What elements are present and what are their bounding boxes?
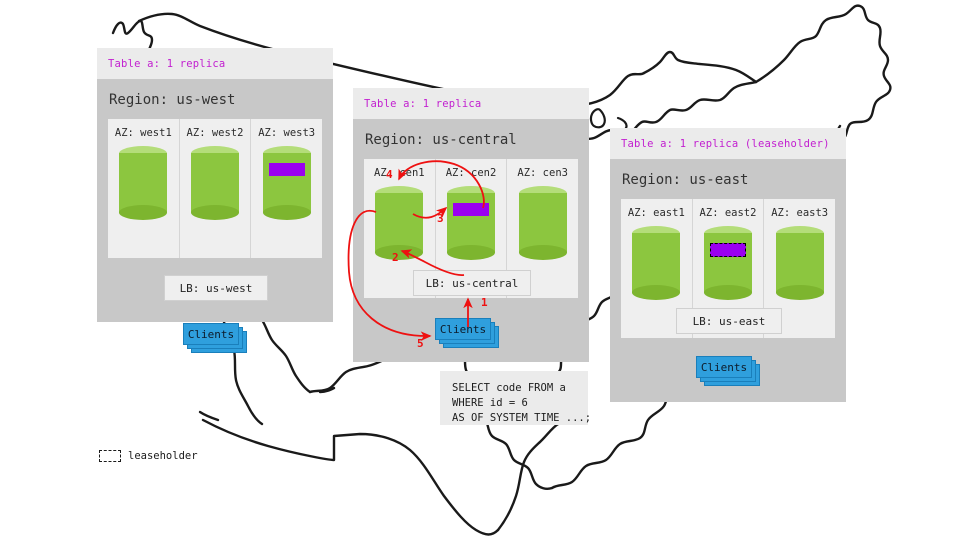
az-label: AZ: east3 (771, 207, 828, 219)
node-cylinder-west1[interactable] (119, 146, 167, 220)
diagram-canvas: Table a: 1 replica Region: us-west AZ: w… (0, 0, 960, 540)
az-row-us-west: AZ: west1 AZ: west2 AZ (108, 119, 322, 258)
node-cylinder-cen3[interactable] (519, 186, 567, 260)
replica-west3[interactable] (269, 163, 305, 176)
az-label: AZ: east2 (700, 207, 757, 219)
region-title: Region: us-west (108, 79, 322, 119)
clients-us-east[interactable]: Clients (696, 356, 766, 386)
clients-card-front[interactable]: Clients (696, 356, 752, 378)
cylinder-body-icon (447, 193, 495, 253)
cylinder-bottom-icon (119, 205, 167, 220)
cylinder-body-icon (632, 233, 680, 293)
node-cylinder-cen2[interactable] (447, 186, 495, 260)
region-header-label: Table a: 1 replica (108, 58, 225, 70)
az-label: AZ: west1 (115, 127, 172, 139)
flow-step-number-1: 1 (481, 296, 488, 309)
cylinder-body-icon (191, 153, 239, 213)
clients-card-front[interactable]: Clients (183, 323, 239, 345)
region-panel-us-east: Table a: 1 replica (leaseholder) Region:… (610, 128, 846, 402)
cylinder-bottom-icon (704, 285, 752, 300)
flow-step-number-3: 3 (437, 212, 444, 225)
cylinder-bottom-icon (447, 245, 495, 260)
cylinder-body-icon (704, 233, 752, 293)
clients-us-west[interactable]: Clients (183, 323, 251, 353)
node-cylinder-east1[interactable] (632, 226, 680, 300)
az-label: AZ: cen2 (446, 167, 497, 179)
az-west2[interactable]: AZ: west2 (180, 119, 252, 258)
region-title: Region: us-central (364, 119, 578, 159)
cylinder-bottom-icon (375, 245, 423, 260)
load-balancer-us-west[interactable]: LB: us-west (164, 275, 268, 301)
clients-label: Clients (440, 323, 486, 336)
load-balancer-us-central[interactable]: LB: us-central (413, 270, 531, 296)
cylinder-bottom-icon (776, 285, 824, 300)
legend-label: leaseholder (128, 450, 198, 462)
az-label: AZ: cen3 (517, 167, 568, 179)
dashed-rect-icon (99, 450, 121, 462)
clients-us-central[interactable]: Clients (435, 318, 507, 348)
sql-query-box: SELECT code FROM a WHERE id = 6 AS OF SY… (440, 371, 588, 425)
cylinder-body-icon (119, 153, 167, 213)
lb-label: LB: us-west (180, 282, 253, 295)
az-label: AZ: cen1 (374, 167, 425, 179)
cylinder-body-icon (519, 193, 567, 253)
node-cylinder-east2[interactable] (704, 226, 752, 300)
az-label: AZ: west3 (258, 127, 315, 139)
cylinder-body-icon (263, 153, 311, 213)
cylinder-bottom-icon (263, 205, 311, 220)
clients-label: Clients (701, 361, 747, 374)
region-header-label: Table a: 1 replica (364, 98, 481, 110)
replica-cen2[interactable] (453, 203, 489, 216)
az-west1[interactable]: AZ: west1 (108, 119, 180, 258)
region-header-us-central: Table a: 1 replica (353, 88, 589, 119)
clients-label: Clients (188, 328, 234, 341)
az-label: AZ: east1 (628, 207, 685, 219)
legend-leaseholder: leaseholder (99, 450, 198, 462)
region-title: Region: us-east (621, 159, 835, 199)
cylinder-body-icon (375, 193, 423, 253)
region-panel-us-west: Table a: 1 replica Region: us-west AZ: w… (97, 48, 333, 322)
az-west3[interactable]: AZ: west3 (251, 119, 322, 258)
flow-step-number-4: 4 (386, 168, 393, 181)
region-header-us-west: Table a: 1 replica (97, 48, 333, 79)
flow-step-number-2: 2 (392, 251, 399, 264)
load-balancer-us-east[interactable]: LB: us-east (676, 308, 782, 334)
lb-label: LB: us-east (693, 315, 766, 328)
node-cylinder-west2[interactable] (191, 146, 239, 220)
region-header-label: Table a: 1 replica (leaseholder) (621, 138, 830, 150)
clients-card-front[interactable]: Clients (435, 318, 491, 340)
az-label: AZ: west2 (187, 127, 244, 139)
cylinder-bottom-icon (519, 245, 567, 260)
node-cylinder-east3[interactable] (776, 226, 824, 300)
flow-step-number-5: 5 (417, 337, 424, 350)
replica-east2-leaseholder[interactable] (710, 243, 746, 257)
cylinder-bottom-icon (632, 285, 680, 300)
cylinder-body-icon (776, 233, 824, 293)
region-header-us-east: Table a: 1 replica (leaseholder) (610, 128, 846, 159)
node-cylinder-west3[interactable] (263, 146, 311, 220)
node-cylinder-cen1[interactable] (375, 186, 423, 260)
region-panel-us-central: Table a: 1 replica Region: us-central AZ… (353, 88, 589, 362)
cylinder-bottom-icon (191, 205, 239, 220)
lb-label: LB: us-central (426, 277, 519, 290)
